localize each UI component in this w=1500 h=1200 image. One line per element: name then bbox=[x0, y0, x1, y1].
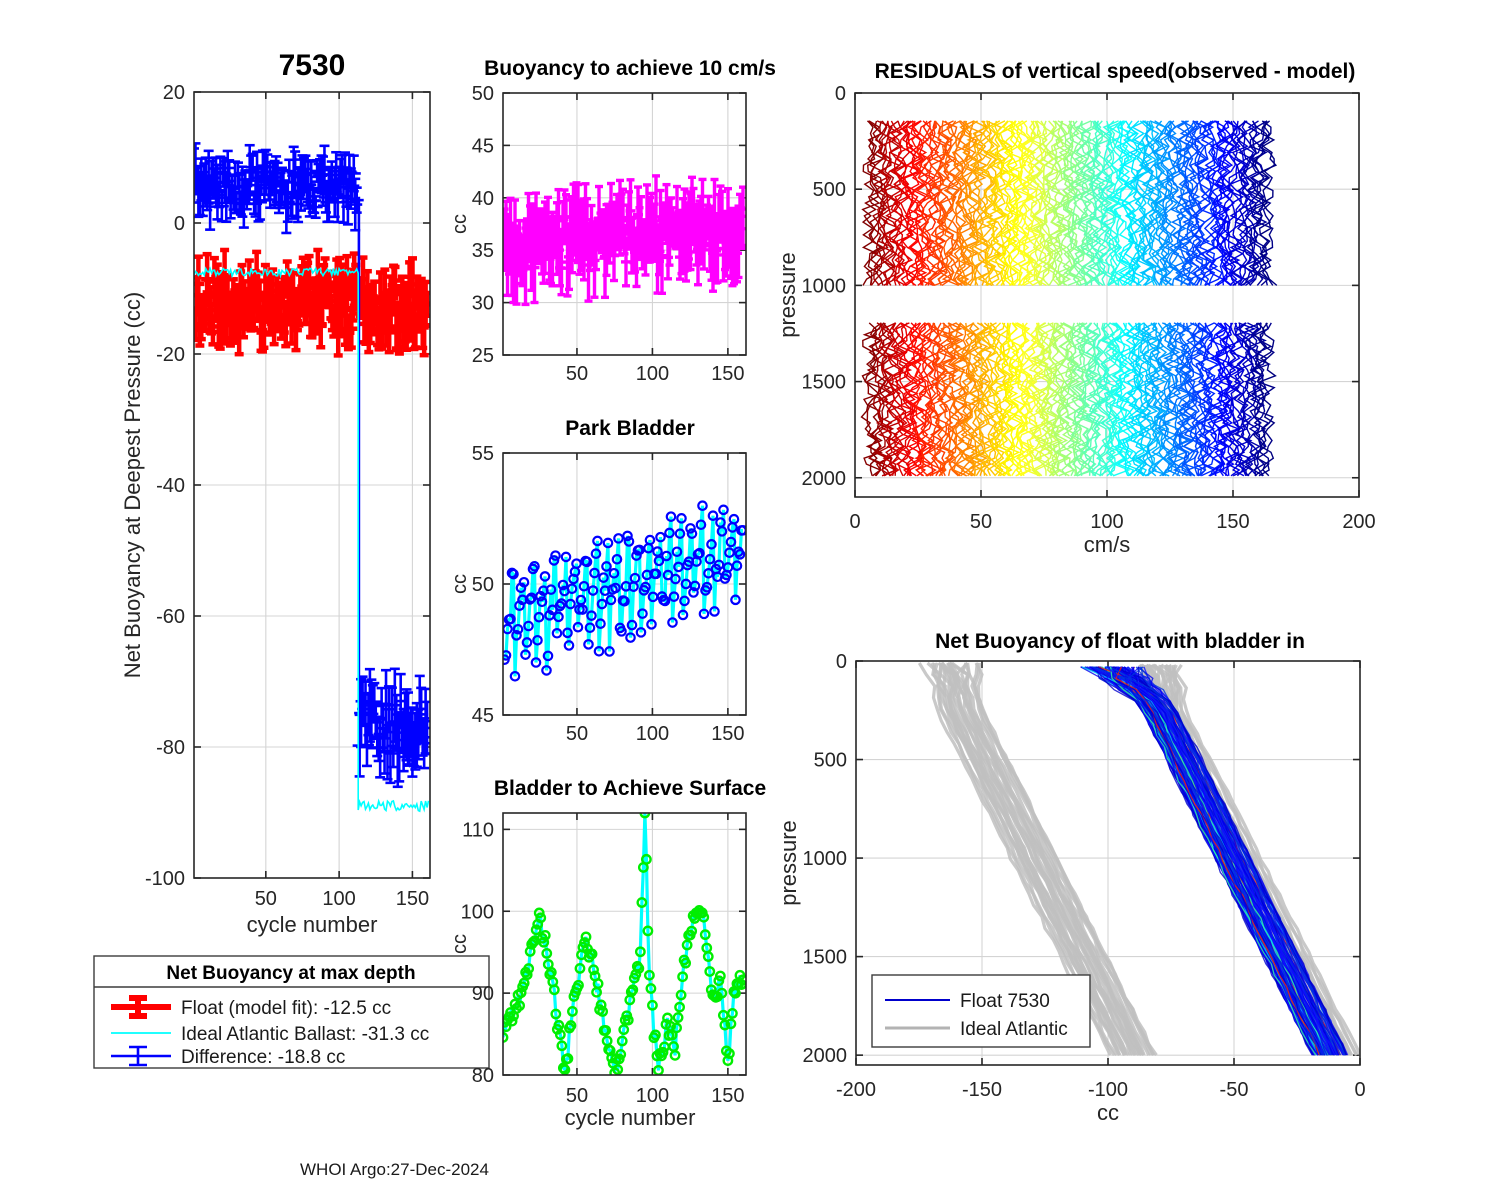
svg-text:110: 110 bbox=[462, 819, 494, 841]
residuals-ylabel: pressure bbox=[775, 252, 800, 338]
netbuoy-panel: Net Buoyancy of float with bladder in -2… bbox=[760, 620, 1440, 1140]
svg-text:0: 0 bbox=[849, 511, 860, 533]
park-bladder-ylabel: cc bbox=[449, 574, 471, 594]
legend-label-float: Float (model fit): -12.5 cc bbox=[181, 998, 391, 1019]
svg-text:1000: 1000 bbox=[802, 275, 847, 297]
residuals-panel: RESIDUALS of vertical speed(observed - m… bbox=[760, 50, 1440, 570]
svg-text:80: 80 bbox=[472, 1065, 494, 1087]
netbuoy-legend-label-float: Float 7530 bbox=[960, 991, 1050, 1012]
svg-text:0: 0 bbox=[1354, 1079, 1365, 1101]
buoyancy10-title: Buoyancy to achieve 10 cm/s bbox=[484, 57, 776, 80]
svg-text:35: 35 bbox=[472, 240, 494, 262]
svg-text:100: 100 bbox=[636, 723, 669, 745]
park-bladder-title: Park Bladder bbox=[565, 417, 695, 440]
svg-text:0: 0 bbox=[835, 83, 846, 105]
bladder-surface-ylabel: cc bbox=[449, 934, 471, 954]
svg-text:55: 55 bbox=[472, 443, 494, 465]
legend-label-difference: Difference: -18.8 cc bbox=[181, 1047, 345, 1068]
svg-text:50: 50 bbox=[566, 1085, 588, 1107]
svg-text:100: 100 bbox=[636, 1085, 669, 1107]
svg-text:0: 0 bbox=[174, 213, 185, 235]
svg-text:150: 150 bbox=[711, 363, 744, 385]
park-bladder-panel: Park Bladder 50100150555045 cc bbox=[440, 415, 780, 745]
bladder-surface-panel: Bladder to Achieve Surface 5010015011010… bbox=[440, 775, 780, 1135]
svg-text:25: 25 bbox=[472, 345, 494, 367]
main-ylabel: Net Buoyancy at Deepest Pressure (cc) bbox=[120, 292, 145, 678]
svg-text:0: 0 bbox=[836, 651, 847, 673]
svg-text:50: 50 bbox=[566, 363, 588, 385]
svg-text:50: 50 bbox=[970, 511, 992, 533]
svg-text:100: 100 bbox=[1090, 511, 1123, 533]
legend-title: Net Buoyancy at max depth bbox=[166, 963, 415, 984]
svg-text:100: 100 bbox=[461, 901, 494, 923]
netbuoy-xlabel: cc bbox=[1097, 1100, 1119, 1125]
svg-text:50: 50 bbox=[255, 888, 277, 910]
svg-text:-40: -40 bbox=[156, 475, 185, 497]
svg-text:150: 150 bbox=[1216, 511, 1249, 533]
netbuoy-title: Net Buoyancy of float with bladder in bbox=[935, 630, 1305, 653]
buoyancy10-panel: Buoyancy to achieve 10 cm/s 501001505045… bbox=[440, 55, 780, 385]
netbuoy-ylabel: pressure bbox=[776, 820, 801, 906]
svg-text:500: 500 bbox=[813, 179, 846, 201]
svg-text:150: 150 bbox=[711, 1085, 744, 1107]
svg-text:150: 150 bbox=[711, 723, 744, 745]
svg-text:1500: 1500 bbox=[802, 372, 847, 394]
svg-text:100: 100 bbox=[322, 888, 355, 910]
residuals-title: RESIDUALS of vertical speed(observed - m… bbox=[875, 60, 1356, 83]
footer-text: WHOI Argo:27-Dec-2024 bbox=[300, 1160, 489, 1180]
legend-label-ideal-ballast: Ideal Atlantic Ballast: -31.3 cc bbox=[181, 1024, 429, 1045]
svg-text:1000: 1000 bbox=[803, 848, 848, 870]
svg-text:1500: 1500 bbox=[803, 947, 848, 969]
svg-text:-200: -200 bbox=[836, 1079, 876, 1101]
svg-text:-150: -150 bbox=[962, 1079, 1002, 1101]
svg-text:100: 100 bbox=[636, 363, 669, 385]
svg-text:2000: 2000 bbox=[802, 468, 847, 490]
residuals-xlabel: cm/s bbox=[1084, 532, 1130, 557]
svg-text:30: 30 bbox=[472, 293, 494, 315]
svg-text:-100: -100 bbox=[145, 868, 185, 890]
svg-text:150: 150 bbox=[396, 888, 429, 910]
svg-text:50: 50 bbox=[472, 574, 494, 596]
main-xlabel: cycle number bbox=[247, 912, 378, 937]
svg-text:-100: -100 bbox=[1088, 1079, 1128, 1101]
svg-text:-20: -20 bbox=[156, 344, 185, 366]
buoyancy10-ylabel: cc bbox=[449, 214, 471, 234]
svg-text:-50: -50 bbox=[1220, 1079, 1249, 1101]
svg-text:200: 200 bbox=[1342, 511, 1375, 533]
main-panel: 7530 50100150200-20-40-60-80-100 cycle n… bbox=[0, 0, 470, 960]
svg-text:2000: 2000 bbox=[803, 1045, 848, 1067]
bladder-surface-title: Bladder to Achieve Surface bbox=[494, 777, 766, 800]
bladder-surface-xlabel: cycle number bbox=[565, 1105, 696, 1130]
netbuoy-legend: Float 7530 Ideal Atlantic bbox=[872, 975, 1090, 1047]
svg-text:-60: -60 bbox=[156, 606, 185, 628]
svg-text:40: 40 bbox=[472, 188, 494, 210]
svg-text:45: 45 bbox=[472, 705, 494, 727]
netbuoy-legend-label-ideal: Ideal Atlantic bbox=[960, 1019, 1068, 1040]
svg-text:-80: -80 bbox=[156, 737, 185, 759]
svg-text:500: 500 bbox=[814, 750, 847, 772]
svg-text:90: 90 bbox=[472, 983, 494, 1005]
main-legend: Net Buoyancy at max depth Float (model f… bbox=[93, 955, 493, 1070]
svg-text:50: 50 bbox=[566, 723, 588, 745]
main-panel-title: 7530 bbox=[279, 49, 346, 82]
svg-text:45: 45 bbox=[472, 135, 494, 157]
svg-text:50: 50 bbox=[472, 83, 494, 105]
svg-text:20: 20 bbox=[163, 82, 185, 104]
